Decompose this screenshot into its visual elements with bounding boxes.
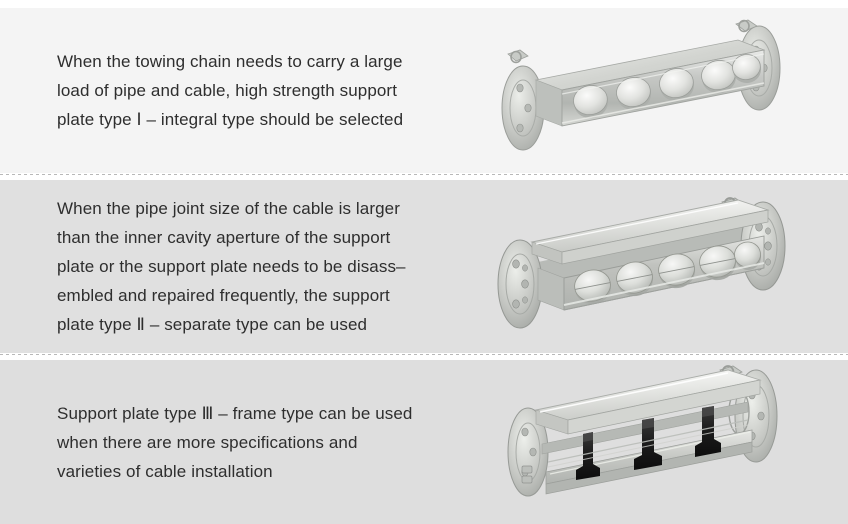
feature-panel-separate-type: When the pipe joint size of the cable is… [0, 180, 848, 353]
support-plate-integral-type-image [478, 10, 808, 170]
panel-3-description: Support plate type Ⅲ – frame type can be… [0, 399, 470, 486]
support-plate-separate-type-image [476, 184, 812, 352]
panel-2-description: When the pipe joint size of the cable is… [0, 194, 470, 339]
panel-divider-2 [0, 354, 848, 355]
feature-panel-frame-type: Support plate type Ⅲ – frame type can be… [0, 360, 848, 524]
panel-divider-1 [0, 174, 848, 175]
panel-3-figure [470, 360, 848, 524]
panel-1-figure [470, 8, 848, 173]
panel-1-description: When the towing chain needs to carry a l… [0, 47, 470, 134]
product-feature-page: When the towing chain needs to carry a l… [0, 0, 848, 524]
support-plate-frame-type-image [476, 362, 812, 522]
feature-panel-integral-type: When the towing chain needs to carry a l… [0, 8, 848, 173]
panel-2-figure [470, 180, 848, 353]
